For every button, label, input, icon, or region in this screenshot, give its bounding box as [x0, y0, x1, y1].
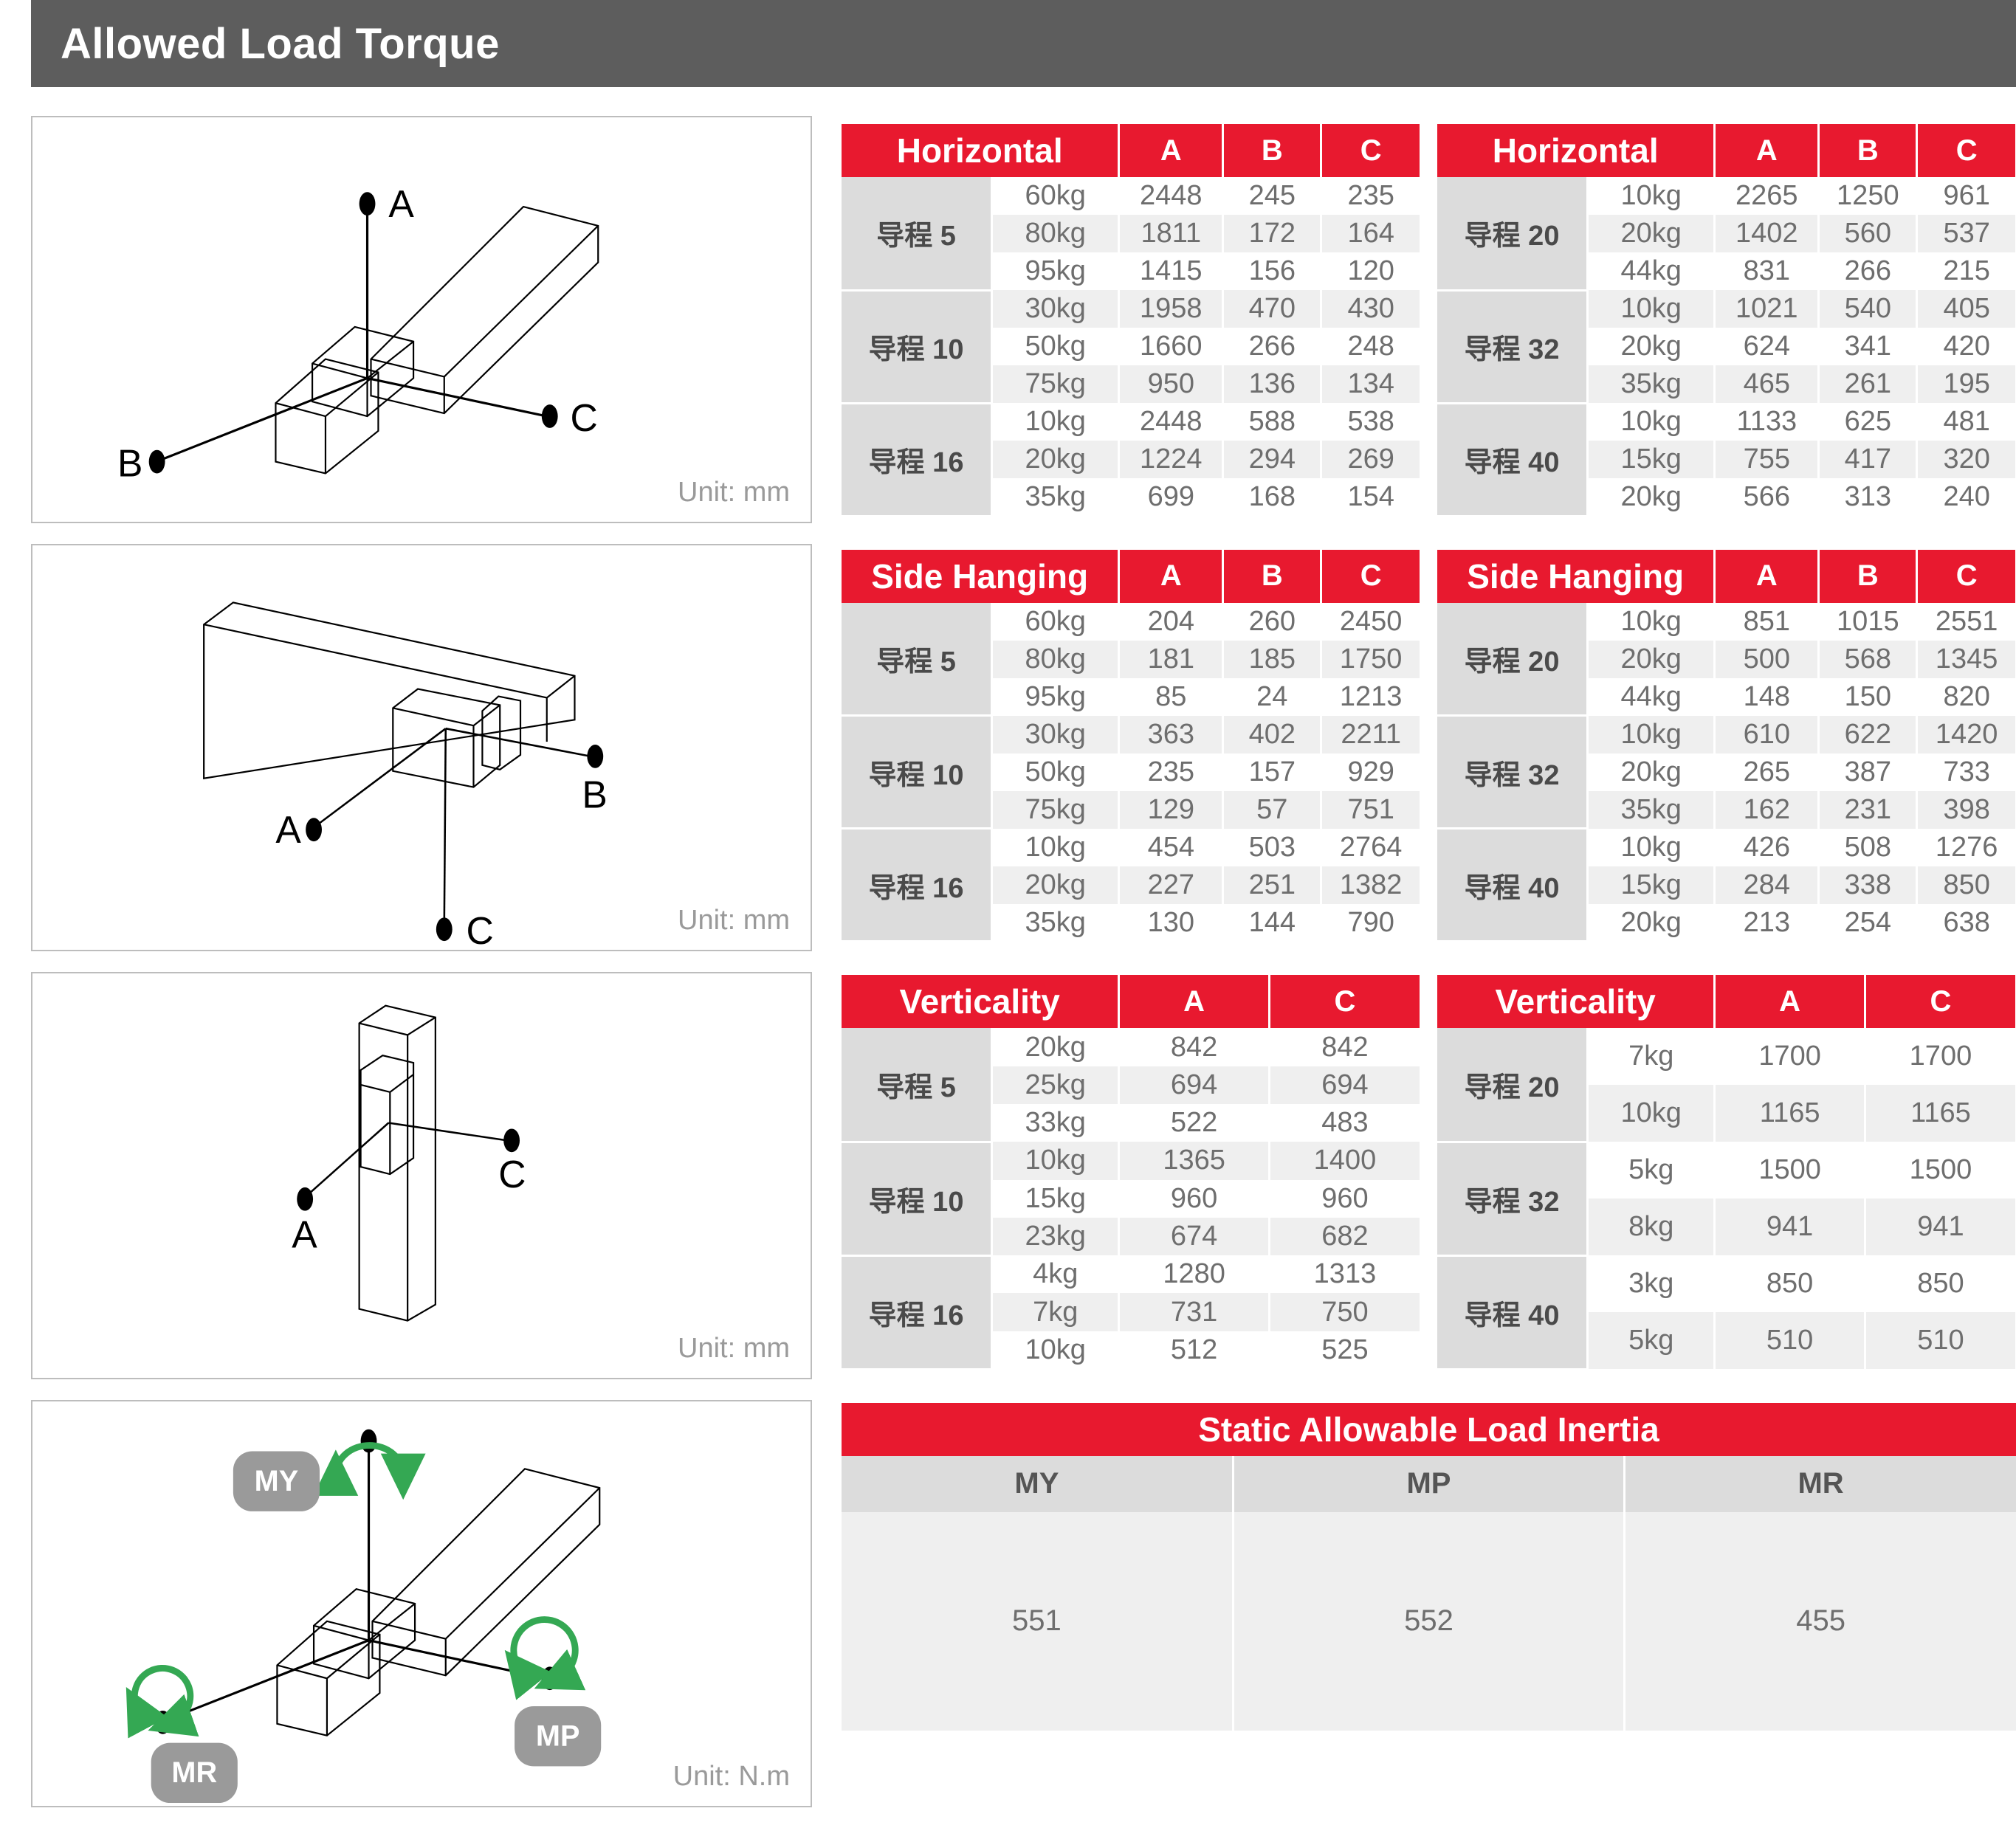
lead-group-label: 导程 16 — [842, 1255, 992, 1369]
value-cell-b: 294 — [1223, 441, 1321, 478]
point-dot-a — [297, 1187, 313, 1211]
load-cell: 10kg — [1588, 716, 1715, 753]
label-point-a: A — [275, 808, 301, 851]
value-cell-a: 363 — [1119, 716, 1223, 753]
load-cell: 60kg — [992, 603, 1119, 641]
value-cell-c: 120 — [1321, 252, 1420, 290]
load-cell: 15kg — [992, 1180, 1119, 1218]
value-cell-c: 481 — [1917, 403, 2015, 441]
value-cell-c: 1313 — [1269, 1255, 1420, 1293]
label-point-b: B — [582, 773, 607, 815]
load-cell: 7kg — [1588, 1028, 1715, 1085]
value-cell-c: 1165 — [1865, 1085, 2015, 1142]
value-cell-a: 454 — [1119, 829, 1223, 866]
table-row: 导程 4010kg1133625481 — [1437, 403, 2015, 441]
value-cell-b: 503 — [1223, 829, 1321, 866]
page-header-bar: Allowed Load Torque — [31, 0, 2016, 87]
value-cell-b: 172 — [1223, 215, 1321, 252]
value-cell-a: 1700 — [1715, 1028, 1865, 1085]
value-cell-b: 387 — [1819, 753, 1917, 791]
load-cell: 30kg — [992, 290, 1119, 328]
lead-group-label: 导程 20 — [1437, 177, 1588, 290]
table-title: Verticality — [842, 975, 1119, 1028]
value-cell-c: 850 — [1865, 1255, 2015, 1312]
value-cell-a: 624 — [1715, 328, 1819, 365]
value-cell-b: 588 — [1223, 403, 1321, 441]
value-cell-a: 842 — [1119, 1028, 1270, 1066]
value-cell-c: 850 — [1917, 866, 2015, 904]
value-cell-a: 1660 — [1119, 328, 1223, 365]
load-cell: 20kg — [1588, 904, 1715, 942]
value-cell-a: 148 — [1715, 678, 1819, 716]
verticality-diagram: A C — [32, 973, 811, 1378]
table-row: 导程 1030kg1958470430 — [842, 290, 1420, 328]
table-horizontal-left: HorizontalABC导程 560kg244824523580kg18111… — [842, 124, 1420, 517]
value-cell-a: 2448 — [1119, 403, 1223, 441]
load-cell: 80kg — [992, 641, 1119, 678]
value-cell-b: 1250 — [1819, 177, 1917, 215]
page-title: Allowed Load Torque — [31, 19, 500, 69]
point-dot-a — [359, 192, 376, 215]
value-cell-c: 134 — [1321, 365, 1420, 403]
load-cell: 20kg — [992, 441, 1119, 478]
value-cell-c: 2450 — [1321, 603, 1420, 641]
value-cell-a: 694 — [1119, 1066, 1270, 1104]
mp-rotation-arrow — [514, 1620, 575, 1679]
value-cell-c: 1276 — [1917, 829, 2015, 866]
load-cell: 75kg — [992, 365, 1119, 403]
value-cell-b: 560 — [1819, 215, 1917, 252]
value-cell-a: 674 — [1119, 1218, 1270, 1255]
load-cell: 80kg — [992, 215, 1119, 252]
load-cell: 10kg — [1588, 403, 1715, 441]
value-cell-c: 320 — [1917, 441, 2015, 478]
value-cell-c: 790 — [1321, 904, 1420, 942]
value-cell-c: 483 — [1269, 1104, 1420, 1142]
load-cell: 60kg — [992, 177, 1119, 215]
value-cell-c: 750 — [1269, 1293, 1420, 1331]
value-cell-c: 537 — [1917, 215, 2015, 252]
value-cell-b: 150 — [1819, 678, 1917, 716]
value-cell-a: 1402 — [1715, 215, 1819, 252]
table-row: 导程 1610kg4545032764 — [842, 829, 1420, 866]
inertia-header-row: MY MP MR — [842, 1456, 2016, 1512]
value-cell-a: 522 — [1119, 1104, 1270, 1142]
table-row: 导程 1010kg13651400 — [842, 1142, 1420, 1179]
load-cell: 95kg — [992, 252, 1119, 290]
value-cell-a: 831 — [1715, 252, 1819, 290]
value-cell-b: 470 — [1223, 290, 1321, 328]
header-left-cap — [0, 0, 31, 87]
table-row: 导程 520kg842842 — [842, 1028, 1420, 1066]
inertia-value-my: 551 — [842, 1512, 1233, 1731]
value-cell-a: 129 — [1119, 791, 1223, 829]
column-header-c: C — [1917, 550, 2015, 603]
value-cell-a: 1224 — [1119, 441, 1223, 478]
value-cell-b: 251 — [1223, 866, 1321, 904]
value-cell-b: 625 — [1819, 403, 1917, 441]
value-cell-b: 260 — [1223, 603, 1321, 641]
column-header-c: C — [1865, 975, 2015, 1028]
lead-group-label: 导程 20 — [1437, 1028, 1588, 1142]
value-cell-a: 731 — [1119, 1293, 1270, 1331]
table-row: 导程 1030kg3634022211 — [842, 716, 1420, 753]
load-cell: 75kg — [992, 791, 1119, 829]
label-point-a: A — [388, 182, 414, 225]
table-static-allowable-load-inertia: Static Allowable Load Inertia MY MP MR 5… — [842, 1403, 2016, 1731]
load-cell: 10kg — [992, 829, 1119, 866]
load-cell: 20kg — [1588, 641, 1715, 678]
point-dot-c — [436, 917, 453, 941]
value-cell-a: 162 — [1715, 791, 1819, 829]
value-cell-c: 1345 — [1917, 641, 2015, 678]
load-cell: 20kg — [1588, 478, 1715, 516]
column-header-a: A — [1715, 124, 1819, 177]
lead-group-label: 导程 10 — [842, 290, 992, 403]
table-row: 导程 560kg2448245235 — [842, 177, 1420, 215]
mp-badge-label: MP — [536, 1720, 580, 1753]
table-verticality-left: VerticalityAC导程 520kg84284225kg69469433k… — [842, 975, 1420, 1370]
value-cell-b: 156 — [1223, 252, 1321, 290]
value-cell-b: 402 — [1223, 716, 1321, 753]
inertia-title: Static Allowable Load Inertia — [842, 1403, 2016, 1456]
value-cell-c: 1400 — [1269, 1142, 1420, 1179]
table-title: Verticality — [1437, 975, 1715, 1028]
value-cell-a: 851 — [1715, 603, 1819, 641]
value-cell-c: 538 — [1321, 403, 1420, 441]
table-header-row: Side HangingABC — [842, 550, 1420, 603]
load-cell: 95kg — [992, 678, 1119, 716]
table-side-hanging-right: Side HangingABC导程 2010kg8511015255120kg5… — [1437, 550, 2015, 943]
table-row: 导程 4010kg4265081276 — [1437, 829, 2015, 866]
value-cell-a: 566 — [1715, 478, 1819, 516]
unit-label: Unit: N.m — [673, 1761, 790, 1793]
moment-diagram-panel: MY MP MR Unit: N.m — [31, 1400, 812, 1807]
load-cell: 10kg — [992, 403, 1119, 441]
table-row: 导程 403kg850850 — [1437, 1255, 2015, 1312]
column-header-c: C — [1917, 124, 2015, 177]
inertia-value-mp: 552 — [1233, 1512, 1624, 1731]
unit-label: Unit: mm — [678, 1333, 790, 1365]
value-cell-b: 568 — [1819, 641, 1917, 678]
value-cell-b: 313 — [1819, 478, 1917, 516]
point-dot-b — [149, 450, 165, 474]
load-cell: 30kg — [992, 716, 1119, 753]
point-dot-a — [306, 818, 322, 841]
value-cell-c: 960 — [1269, 1180, 1420, 1218]
load-cell: 23kg — [992, 1218, 1119, 1255]
load-cell: 10kg — [992, 1142, 1119, 1179]
lead-group-label: 导程 40 — [1437, 1255, 1588, 1369]
load-cell: 25kg — [992, 1066, 1119, 1104]
load-cell: 20kg — [992, 1028, 1119, 1066]
load-cell: 44kg — [1588, 678, 1715, 716]
value-cell-b: 540 — [1819, 290, 1917, 328]
value-cell-c: 1382 — [1321, 866, 1420, 904]
table-row: 导程 560kg2042602450 — [842, 603, 1420, 641]
value-cell-c: 694 — [1269, 1066, 1420, 1104]
load-cell: 33kg — [992, 1104, 1119, 1142]
value-cell-a: 85 — [1119, 678, 1223, 716]
point-dot-b — [587, 745, 603, 768]
column-header-a: A — [1715, 550, 1819, 603]
value-cell-c: 941 — [1865, 1198, 2015, 1255]
load-cell: 5kg — [1588, 1142, 1715, 1198]
load-cell: 10kg — [1588, 1085, 1715, 1142]
value-cell-a: 1365 — [1119, 1142, 1270, 1179]
value-cell-a: 181 — [1119, 641, 1223, 678]
label-point-c: C — [498, 1153, 526, 1196]
unit-label: Unit: mm — [678, 905, 790, 937]
point-dot-c — [503, 1128, 520, 1152]
load-cell: 35kg — [1588, 791, 1715, 829]
load-cell: 4kg — [992, 1255, 1119, 1293]
table-title: Horizontal — [1437, 124, 1715, 177]
value-cell-c: 398 — [1917, 791, 2015, 829]
table-title: Horizontal — [842, 124, 1119, 177]
value-cell-b: 136 — [1223, 365, 1321, 403]
value-cell-c: 240 — [1917, 478, 2015, 516]
table-row: 导程 2010kg22651250961 — [1437, 177, 2015, 215]
value-cell-c: 2551 — [1917, 603, 2015, 641]
value-cell-b: 231 — [1819, 791, 1917, 829]
value-cell-c: 1213 — [1321, 678, 1420, 716]
value-cell-c: 248 — [1321, 328, 1420, 365]
load-cell: 15kg — [1588, 866, 1715, 904]
side-hanging-table-pair: Side HangingABC导程 560kg204260245080kg181… — [842, 550, 2016, 943]
value-cell-c: 820 — [1917, 678, 2015, 716]
value-cell-c: 1700 — [1865, 1028, 2015, 1085]
value-cell-a: 2448 — [1119, 177, 1223, 215]
value-cell-c: 2211 — [1321, 716, 1420, 753]
value-cell-b: 144 — [1223, 904, 1321, 942]
value-cell-c: 1500 — [1865, 1142, 2015, 1198]
value-cell-b: 508 — [1819, 829, 1917, 866]
column-header-a: A — [1119, 550, 1223, 603]
value-cell-c: 929 — [1321, 753, 1420, 791]
point-dot-c — [542, 404, 558, 428]
value-cell-b: 24 — [1223, 678, 1321, 716]
value-cell-a: 500 — [1715, 641, 1819, 678]
value-cell-c: 405 — [1917, 290, 2015, 328]
value-cell-b: 261 — [1819, 365, 1917, 403]
inertia-value-mr: 455 — [1625, 1512, 2016, 1731]
horizontal-diagram-panel: A C B Unit: mm — [31, 116, 812, 523]
value-cell-c: 215 — [1917, 252, 2015, 290]
value-cell-b: 157 — [1223, 753, 1321, 791]
value-cell-a: 1133 — [1715, 403, 1819, 441]
column-header-b: B — [1223, 550, 1321, 603]
value-cell-b: 341 — [1819, 328, 1917, 365]
value-cell-c: 235 — [1321, 177, 1420, 215]
value-cell-b: 266 — [1819, 252, 1917, 290]
value-cell-a: 284 — [1715, 866, 1819, 904]
load-cell: 10kg — [1588, 603, 1715, 641]
load-cell: 20kg — [1588, 215, 1715, 252]
table-verticality-right: VerticalityAC导程 207kg1700170010kg1165116… — [1437, 975, 2015, 1370]
lead-group-label: 导程 32 — [1437, 290, 1588, 403]
table-row: 导程 1610kg2448588538 — [842, 403, 1420, 441]
table-title: Side Hanging — [842, 550, 1119, 603]
lead-group-label: 导程 40 — [1437, 403, 1588, 516]
value-cell-a: 1811 — [1119, 215, 1223, 252]
value-cell-a: 213 — [1715, 904, 1819, 942]
column-header-c: C — [1269, 975, 1420, 1028]
lead-group-label: 导程 32 — [1437, 1142, 1588, 1255]
value-cell-a: 1280 — [1119, 1255, 1270, 1293]
load-cell: 15kg — [1588, 441, 1715, 478]
value-cell-c: 2764 — [1321, 829, 1420, 866]
lead-group-label: 导程 16 — [842, 403, 992, 516]
load-cell: 35kg — [992, 904, 1119, 942]
load-cell: 50kg — [992, 753, 1119, 791]
verticality-table-pair: VerticalityAC导程 520kg84284225kg69469433k… — [842, 975, 2016, 1370]
table-row: 导程 3210kg1021540405 — [1437, 290, 2015, 328]
value-cell-c: 195 — [1917, 365, 2015, 403]
column-header-a: A — [1715, 975, 1865, 1028]
table-row: 导程 164kg12801313 — [842, 1255, 1420, 1293]
load-cell: 10kg — [1588, 290, 1715, 328]
horizontal-table-pair: HorizontalABC导程 560kg244824523580kg18111… — [842, 124, 2016, 517]
table-header-row: Side HangingABC — [1437, 550, 2015, 603]
label-point-c: C — [467, 909, 494, 950]
load-cell: 20kg — [992, 866, 1119, 904]
value-cell-a: 960 — [1119, 1180, 1270, 1218]
table-side-hanging-left: Side HangingABC导程 560kg204260245080kg181… — [842, 550, 1420, 943]
table-header-row: HorizontalABC — [1437, 124, 2015, 177]
my-badge-label: MY — [255, 1465, 299, 1497]
value-cell-b: 245 — [1223, 177, 1321, 215]
column-header-a: A — [1119, 124, 1223, 177]
value-cell-a: 610 — [1715, 716, 1819, 753]
value-cell-a: 512 — [1119, 1331, 1270, 1369]
table-row: 导程 325kg15001500 — [1437, 1142, 2015, 1198]
value-cell-b: 622 — [1819, 716, 1917, 753]
column-header-b: B — [1819, 550, 1917, 603]
load-cell: 10kg — [1588, 177, 1715, 215]
load-cell: 20kg — [1588, 328, 1715, 365]
side-hanging-diagram: A B C — [32, 545, 811, 950]
value-cell-a: 950 — [1119, 365, 1223, 403]
table-row: 导程 3210kg6106221420 — [1437, 716, 2015, 753]
value-cell-c: 961 — [1917, 177, 2015, 215]
value-cell-b: 254 — [1819, 904, 1917, 942]
table-row: 导程 207kg17001700 — [1437, 1028, 2015, 1085]
lead-group-label: 导程 16 — [842, 829, 992, 942]
column-header-b: B — [1223, 124, 1321, 177]
load-cell: 7kg — [992, 1293, 1119, 1331]
axis-dot-mp — [542, 1666, 558, 1690]
value-cell-a: 130 — [1119, 904, 1223, 942]
inertia-col-my: MY — [842, 1456, 1233, 1512]
value-cell-c: 430 — [1321, 290, 1420, 328]
value-cell-c: 1420 — [1917, 716, 2015, 753]
diagram-column: A C B Unit: mm — [31, 116, 812, 1828]
value-cell-b: 338 — [1819, 866, 1917, 904]
mr-badge-label: MR — [171, 1756, 217, 1789]
inertia-col-mr: MR — [1625, 1456, 2016, 1512]
load-cell: 44kg — [1588, 252, 1715, 290]
axis-dot-mr — [155, 1711, 171, 1734]
moment-diagram: MY MP MR — [32, 1401, 811, 1806]
lead-group-label: 导程 5 — [842, 1028, 992, 1142]
value-cell-a: 1021 — [1715, 290, 1819, 328]
value-cell-a: 465 — [1715, 365, 1819, 403]
lead-group-label: 导程 10 — [842, 716, 992, 829]
unit-label: Unit: mm — [678, 477, 790, 508]
value-cell-a: 227 — [1119, 866, 1223, 904]
value-cell-b: 57 — [1223, 791, 1321, 829]
value-cell-c: 164 — [1321, 215, 1420, 252]
value-cell-c: 525 — [1269, 1331, 1420, 1369]
lead-group-label: 导程 32 — [1437, 716, 1588, 829]
value-cell-a: 1500 — [1715, 1142, 1865, 1198]
value-cell-a: 850 — [1715, 1255, 1865, 1312]
value-cell-b: 1015 — [1819, 603, 1917, 641]
lead-group-label: 导程 5 — [842, 603, 992, 716]
table-title: Side Hanging — [1437, 550, 1715, 603]
inertia-value-row: 551 552 455 — [842, 1512, 2016, 1731]
table-row: 导程 2010kg85110152551 — [1437, 603, 2015, 641]
value-cell-a: 1415 — [1119, 252, 1223, 290]
column-header-b: B — [1819, 124, 1917, 177]
horizontal-diagram: A C B — [32, 117, 811, 522]
load-cell: 10kg — [992, 1331, 1119, 1369]
value-cell-c: 638 — [1917, 904, 2015, 942]
lead-group-label: 导程 10 — [842, 1142, 992, 1255]
load-cell: 5kg — [1588, 1312, 1715, 1369]
table-header-row: HorizontalABC — [842, 124, 1420, 177]
value-cell-a: 755 — [1715, 441, 1819, 478]
load-cell: 20kg — [1588, 753, 1715, 791]
column-header-c: C — [1321, 124, 1420, 177]
label-point-b: B — [117, 441, 142, 484]
lead-group-label: 导程 5 — [842, 177, 992, 290]
side-hanging-diagram-panel: A B C Unit: mm — [31, 544, 812, 951]
value-cell-a: 204 — [1119, 603, 1223, 641]
value-cell-c: 842 — [1269, 1028, 1420, 1066]
tables-column: HorizontalABC导程 560kg244824523580kg18111… — [842, 124, 2016, 1731]
inertia-col-mp: MP — [1233, 1456, 1624, 1512]
value-cell-a: 1958 — [1119, 290, 1223, 328]
column-header-c: C — [1321, 550, 1420, 603]
table-header-row: VerticalityAC — [1437, 975, 2015, 1028]
lead-group-label: 导程 20 — [1437, 603, 1588, 716]
load-cell: 50kg — [992, 328, 1119, 365]
value-cell-b: 266 — [1223, 328, 1321, 365]
value-cell-c: 733 — [1917, 753, 2015, 791]
value-cell-c: 510 — [1865, 1312, 2015, 1369]
lead-group-label: 导程 40 — [1437, 829, 1588, 942]
column-header-a: A — [1119, 975, 1270, 1028]
value-cell-a: 510 — [1715, 1312, 1865, 1369]
value-cell-a: 699 — [1119, 478, 1223, 516]
value-cell-b: 185 — [1223, 641, 1321, 678]
value-cell-a: 941 — [1715, 1198, 1865, 1255]
load-cell: 35kg — [1588, 365, 1715, 403]
value-cell-b: 168 — [1223, 478, 1321, 516]
value-cell-a: 426 — [1715, 829, 1819, 866]
load-cell: 10kg — [1588, 829, 1715, 866]
value-cell-c: 682 — [1269, 1218, 1420, 1255]
load-cell: 3kg — [1588, 1255, 1715, 1312]
load-cell: 35kg — [992, 478, 1119, 516]
value-cell-a: 235 — [1119, 753, 1223, 791]
value-cell-c: 1750 — [1321, 641, 1420, 678]
value-cell-c: 420 — [1917, 328, 2015, 365]
inertia-title-row: Static Allowable Load Inertia — [842, 1403, 2016, 1456]
value-cell-c: 269 — [1321, 441, 1420, 478]
